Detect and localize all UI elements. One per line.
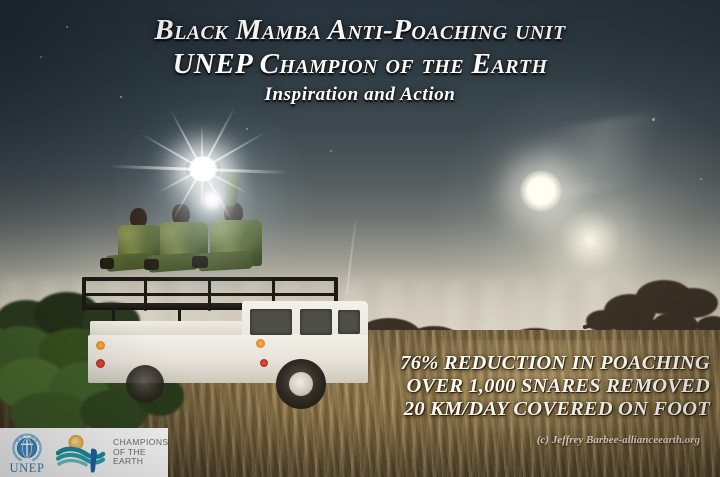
marker-lamp-amber-icon [256, 339, 265, 348]
star-icon [652, 118, 655, 121]
marker-lamp-amber-icon [96, 341, 105, 350]
marker-lamp-red-icon [96, 359, 105, 368]
statistics-block: 76% REDUCTION IN POACHING OVER 1,000 SNA… [230, 352, 710, 421]
moon-icon [520, 170, 562, 212]
human-figure-icon [91, 442, 97, 472]
champions-of-the-earth-logo[interactable]: CHAMPIONS OF THE EARTH [54, 429, 169, 476]
champions-wordmark: CHAMPIONS OF THE EARTH [113, 438, 169, 467]
poster-title-block: Black Mamba Anti-Poaching unit UNEP Cham… [0, 14, 720, 108]
stat-line: 20 KM/DAY COVERED ON FOOT [230, 398, 710, 421]
unep-globe-laurel-icon [10, 432, 44, 463]
title-line-1: Black Mamba Anti-Poaching unit [0, 14, 720, 47]
spotlight-core [186, 156, 220, 182]
title-tagline: Inspiration and Action [0, 82, 720, 108]
unep-logo[interactable]: UNEP [0, 429, 54, 476]
photo-credit: (c) Jeffrey Barbee-allianceearth.org [537, 434, 700, 446]
stat-line: 76% REDUCTION IN POACHING [230, 352, 710, 375]
unep-wordmark: UNEP [9, 463, 44, 474]
title-line-2: UNEP Champion of the Earth [0, 47, 720, 81]
spotlight-glow [112, 100, 312, 300]
stat-line: OVER 1,000 SNARES REMOVED [230, 375, 710, 398]
poster-image: Black Mamba Anti-Poaching unit UNEP Cham… [0, 0, 720, 477]
champions-emblem-icon [56, 433, 110, 473]
champions-line-2: OF THE EARTH [113, 448, 169, 467]
logo-banner: UNEP [0, 428, 168, 477]
star-icon [700, 178, 702, 180]
star-icon [330, 150, 332, 152]
vehicle-front-wheel [126, 365, 164, 403]
